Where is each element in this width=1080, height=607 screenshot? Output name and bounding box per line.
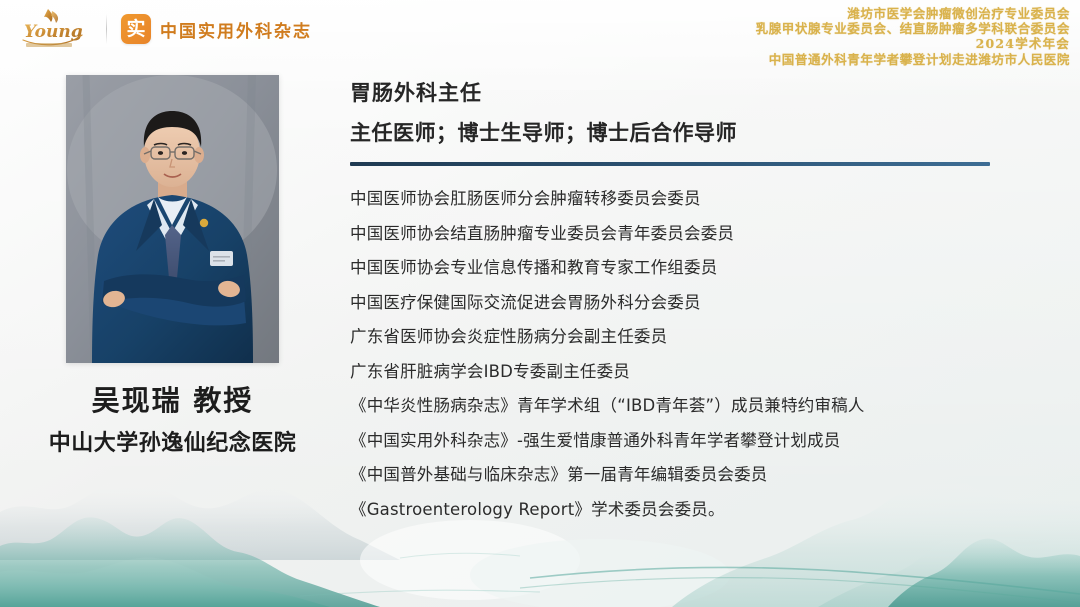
brand-divider — [106, 14, 107, 44]
credential-item: 中国医师协会结直肠肿瘤专业委员会青年委员会委员 — [350, 217, 1050, 252]
journal-lockup: 实 中国实用外科杂志 — [121, 14, 312, 44]
speaker-name: 吴现瑞 教授 — [0, 379, 345, 419]
credential-item: 广东省肝脏病学会IBD专委副主任委员 — [350, 355, 1050, 390]
conference-line-1: 潍坊市医学会肿瘤微创治疗专业委员会 — [756, 6, 1070, 21]
journal-badge-icon: 实 — [121, 14, 151, 44]
role-title: 胃肠外科主任 — [350, 78, 1050, 108]
journal-name: 中国实用外科杂志 — [160, 17, 312, 42]
credential-item: 《中华炎性肠病杂志》青年学术组（“IBD青年荟”）成员兼特约审稿人 — [350, 389, 1050, 424]
speaker-portrait — [66, 75, 279, 363]
svg-text:Young: Young — [24, 22, 83, 42]
title-divider — [350, 162, 990, 166]
role-subtitle: 主任医师；博士生导师；博士后合作导师 — [350, 118, 1050, 148]
credential-item: 中国医师协会肛肠医师分会肿瘤转移委员会委员 — [350, 182, 1050, 217]
young-logo-icon: Young — [18, 6, 92, 52]
credential-item: 中国医疗保健国际交流促进会胃肠外科分会委员 — [350, 286, 1050, 321]
conference-line-2: 乳腺甲状腺专业委员会、结直肠肿瘤多学科联合委员会 — [756, 21, 1070, 36]
credentials-list: 中国医师协会肛肠医师分会肿瘤转移委员会委员 中国医师协会结直肠肿瘤专业委员会青年… — [350, 182, 1050, 527]
speaker-affiliation: 中山大学孙逸仙纪念医院 — [0, 425, 345, 457]
speaker-panel: 吴现瑞 教授 中山大学孙逸仙纪念医院 — [0, 72, 345, 457]
credential-item: 《中国普外基础与临床杂志》第一届青年编辑委员会委员 — [350, 458, 1050, 493]
credential-item: 《中国实用外科杂志》-强生爱惜康普通外科青年学者攀登计划成员 — [350, 424, 1050, 459]
credential-item: 广东省医师协会炎症性肠病分会副主任委员 — [350, 320, 1050, 355]
conference-line-3: 2024学术年会 — [756, 36, 1070, 51]
credentials-panel: 胃肠外科主任 主任医师；博士生导师；博士后合作导师 中国医师协会肛肠医师分会肿瘤… — [350, 78, 1050, 527]
slide-header: Young 实 中国实用外科杂志 潍坊市医学会肿瘤微创治疗专业委员会 乳腺甲状腺… — [0, 0, 1080, 72]
credential-item: 中国医师协会专业信息传播和教育专家工作组委员 — [350, 251, 1050, 286]
conference-line-4: 中国普通外科青年学者攀登计划走进潍坊市人民医院 — [756, 52, 1070, 67]
conference-title-block: 潍坊市医学会肿瘤微创治疗专业委员会 乳腺甲状腺专业委员会、结直肠肿瘤多学科联合委… — [756, 6, 1070, 67]
speaker-intro-slide: Young 实 中国实用外科杂志 潍坊市医学会肿瘤微创治疗专业委员会 乳腺甲状腺… — [0, 0, 1080, 607]
credential-item: 《Gastroenterology Report》学术委员会委员。 — [350, 493, 1050, 528]
brand-lockup: Young 实 中国实用外科杂志 — [18, 6, 312, 52]
